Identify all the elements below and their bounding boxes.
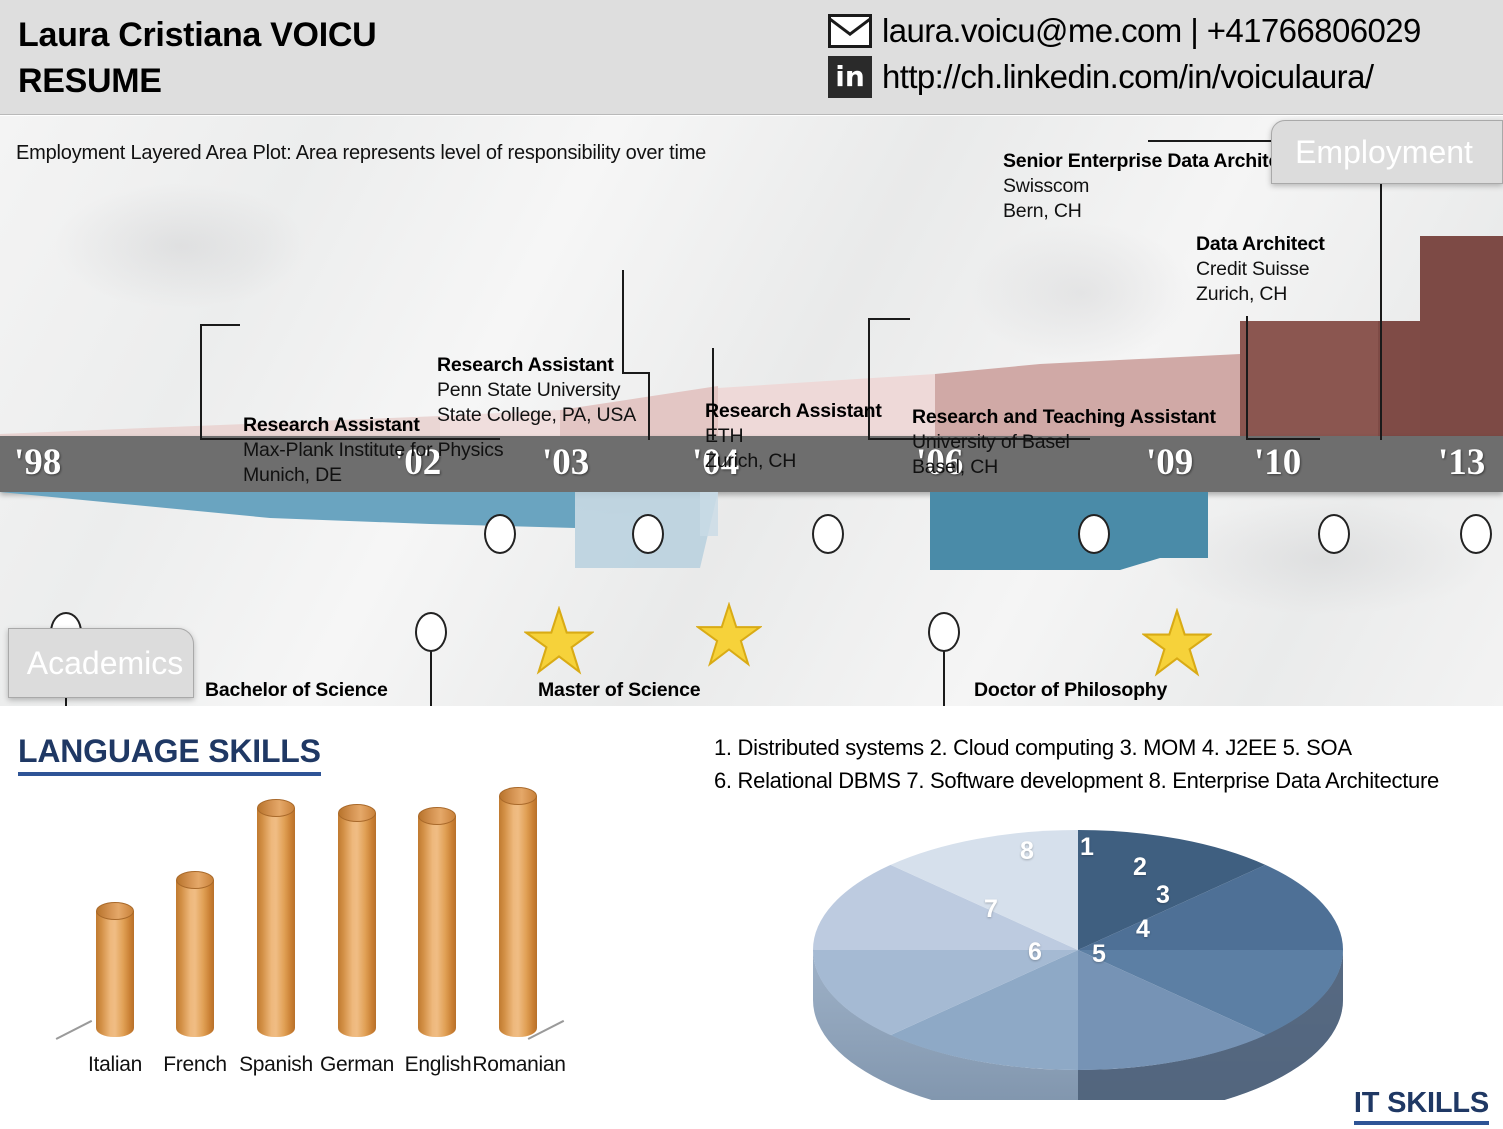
- pie-label-1: 1: [1080, 833, 1094, 862]
- tab-academics-label: Academics: [27, 645, 184, 682]
- it-skills-title: IT SKILLS: [1354, 1087, 1489, 1125]
- contact-block: laura.voicu@me.com | +41766806029 in htt…: [828, 8, 1421, 100]
- employment-title-4: Research and Teaching Assistant: [912, 405, 1216, 430]
- envelope-icon: [828, 14, 872, 48]
- employment-org-2: Penn State University: [437, 378, 636, 403]
- employment-band-10: [1378, 236, 1440, 441]
- leader-line-employment-5-h: [1148, 140, 1284, 142]
- pie-label-7: 7: [984, 895, 998, 924]
- tab-academics[interactable]: Academics: [8, 628, 194, 698]
- leader-line-employment-4-h: [868, 318, 910, 320]
- bar-body-italian: [96, 911, 134, 1037]
- bar-cap-french: [176, 871, 214, 889]
- employment-label-5: Senior Enterprise Data Architect Swissco…: [1003, 149, 1296, 224]
- linkedin-icon: in: [828, 56, 872, 98]
- academics-field-1: Computer Science Engineering: [205, 703, 489, 706]
- email-row: laura.voicu@me.com | +41766806029: [828, 8, 1421, 54]
- resume-infographic: Laura Cristiana VOICU RESUME laura.voicu…: [0, 0, 1503, 1129]
- leader-line-employment-2-riser: [648, 372, 650, 440]
- bar-body-romanian: [499, 796, 537, 1037]
- star-icon-2: [696, 602, 762, 668]
- timeline-marker-academics-2[interactable]: [415, 612, 447, 652]
- employment-label-6: Data Architect Credit Suisse Zurich, CH: [1196, 232, 1325, 307]
- timeline-marker-employment-3[interactable]: [812, 514, 844, 554]
- employment-org-1: Max-Plank Institute for Physics: [243, 438, 503, 463]
- employment-title-2: Research Assistant: [437, 353, 636, 378]
- academics-degree-3: Doctor of Philosophy: [974, 678, 1167, 703]
- employment-label-2: Research Assistant Penn State University…: [437, 353, 636, 428]
- leader-line-employment-1-riser: [200, 324, 202, 440]
- employment-label-3: Research Assistant ETH Zurich, CH: [705, 399, 882, 474]
- year-label-6: '10: [1254, 441, 1301, 484]
- employment-loc-1: Munich, DE: [243, 463, 503, 488]
- employment-loc-2: State College, PA, USA: [437, 403, 636, 428]
- employment-org-6: Credit Suisse: [1196, 257, 1325, 282]
- leader-line-employment-6-v: [1246, 316, 1248, 440]
- timeline-marker-employment-5[interactable]: [1318, 514, 1350, 554]
- bar-english[interactable]: [418, 807, 456, 1037]
- timeline-marker-academics-3[interactable]: [928, 612, 960, 652]
- employment-org-3: ETH: [705, 424, 882, 449]
- academics-degree-2: Master of Science: [538, 678, 707, 703]
- pie-label-5: 5: [1092, 940, 1106, 969]
- bar-cap-english: [418, 807, 456, 825]
- bar-label-romanian: Romanian: [458, 1053, 580, 1077]
- academics-band-4: [930, 492, 1208, 570]
- bar-cap-italian: [96, 902, 134, 920]
- axis-tick-left: [56, 1019, 92, 1038]
- year-label-0: '98: [14, 441, 61, 484]
- bar-italian[interactable]: [96, 902, 134, 1037]
- tab-employment[interactable]: Employment: [1271, 120, 1503, 184]
- year-label-7: '13: [1438, 441, 1485, 484]
- academics-area-chart: [0, 492, 1503, 612]
- academics-field-3: Computer Science: [974, 703, 1167, 706]
- bar-body-german: [338, 813, 376, 1037]
- employment-label-4: Research and Teaching Assistant Universi…: [912, 405, 1216, 480]
- academics-band-3: [700, 492, 718, 536]
- academics-degree-1: Bachelor of Science: [205, 678, 489, 703]
- leader-line-employment-6-h: [1246, 438, 1320, 440]
- pie-svg: [808, 795, 1348, 1100]
- timeline-marker-employment-4[interactable]: [1078, 514, 1110, 554]
- employment-loc-6: Zurich, CH: [1196, 282, 1325, 307]
- bar-cap-german: [338, 804, 376, 822]
- header-bar: Laura Cristiana VOICU RESUME laura.voicu…: [0, 0, 1503, 115]
- it-skills-pie-chart: 1 2 3 4 5 6 7 8: [808, 795, 1348, 1100]
- pie-slices: [813, 830, 1343, 1070]
- timeline-marker-employment-6[interactable]: [1460, 514, 1492, 554]
- page-title: Laura Cristiana VOICU: [18, 12, 376, 58]
- timeline-panel: Employment Layered Area Plot: Area repre…: [0, 116, 1503, 706]
- it-skills-line-2: 6. Relational DBMS 7. Software developme…: [714, 764, 1503, 797]
- academics-field-2: Physics: [538, 703, 707, 706]
- bar-french[interactable]: [176, 871, 214, 1037]
- employment-title-6: Data Architect: [1196, 232, 1325, 257]
- it-skills-list: 1. Distributed systems 2. Cloud computin…: [714, 731, 1503, 797]
- academics-label-2: Master of Science Physics University of …: [538, 678, 707, 706]
- bar-spanish[interactable]: [257, 799, 295, 1037]
- bar-cap-romanian: [499, 787, 537, 805]
- timeline-marker-employment-1[interactable]: [484, 514, 516, 554]
- leader-line-employment-5-v: [1380, 168, 1382, 440]
- email-phone-text: laura.voicu@me.com | +41766806029: [882, 12, 1421, 50]
- bar-romanian[interactable]: [499, 787, 537, 1037]
- timeline-marker-employment-2[interactable]: [632, 514, 664, 554]
- leader-line-employment-1-top: [200, 324, 240, 326]
- page-subtitle: RESUME: [18, 58, 376, 104]
- year-label-2: '03: [542, 441, 589, 484]
- star-icon-3: [1142, 608, 1212, 678]
- pie-label-6: 6: [1028, 938, 1042, 967]
- bar-body-french: [176, 880, 214, 1037]
- pie-label-4: 4: [1136, 915, 1150, 944]
- employment-title-3: Research Assistant: [705, 399, 882, 424]
- language-skills-title: LANGUAGE SKILLS: [18, 733, 321, 776]
- it-skills-line-1: 1. Distributed systems 2. Cloud computin…: [714, 731, 1503, 764]
- name-block: Laura Cristiana VOICU RESUME: [18, 12, 376, 104]
- bar-body-spanish: [257, 808, 295, 1037]
- employment-band-7: [1240, 321, 1378, 441]
- employment-title-5: Senior Enterprise Data Architect: [1003, 149, 1296, 174]
- academics-label-3: Doctor of Philosophy Computer Science Un…: [974, 678, 1167, 706]
- linkedin-url[interactable]: http://ch.linkedin.com/in/voiculaura/: [882, 58, 1373, 96]
- employment-org-4: University of Basel: [912, 430, 1216, 455]
- pie-label-3: 3: [1156, 881, 1170, 910]
- pie-label-2: 2: [1133, 853, 1147, 882]
- employment-loc-3: Zurich, CH: [705, 449, 882, 474]
- bar-german[interactable]: [338, 804, 376, 1037]
- employment-org-5: Swisscom: [1003, 174, 1296, 199]
- employment-loc-4: Basel, CH: [912, 455, 1216, 480]
- employment-loc-5: Bern, CH: [1003, 199, 1296, 224]
- language-skills-bar-chart: Italian French Spanish German English Ro…: [0, 775, 620, 1085]
- academics-label-1: Bachelor of Science Computer Science Eng…: [205, 678, 489, 706]
- bar-cap-spanish: [257, 799, 295, 817]
- bar-body-english: [418, 816, 456, 1037]
- star-icon-1: [524, 606, 594, 676]
- tab-employment-label: Employment: [1295, 134, 1473, 171]
- pie-label-8: 8: [1020, 837, 1034, 866]
- linkedin-row[interactable]: in http://ch.linkedin.com/in/voiculaura/: [828, 54, 1421, 100]
